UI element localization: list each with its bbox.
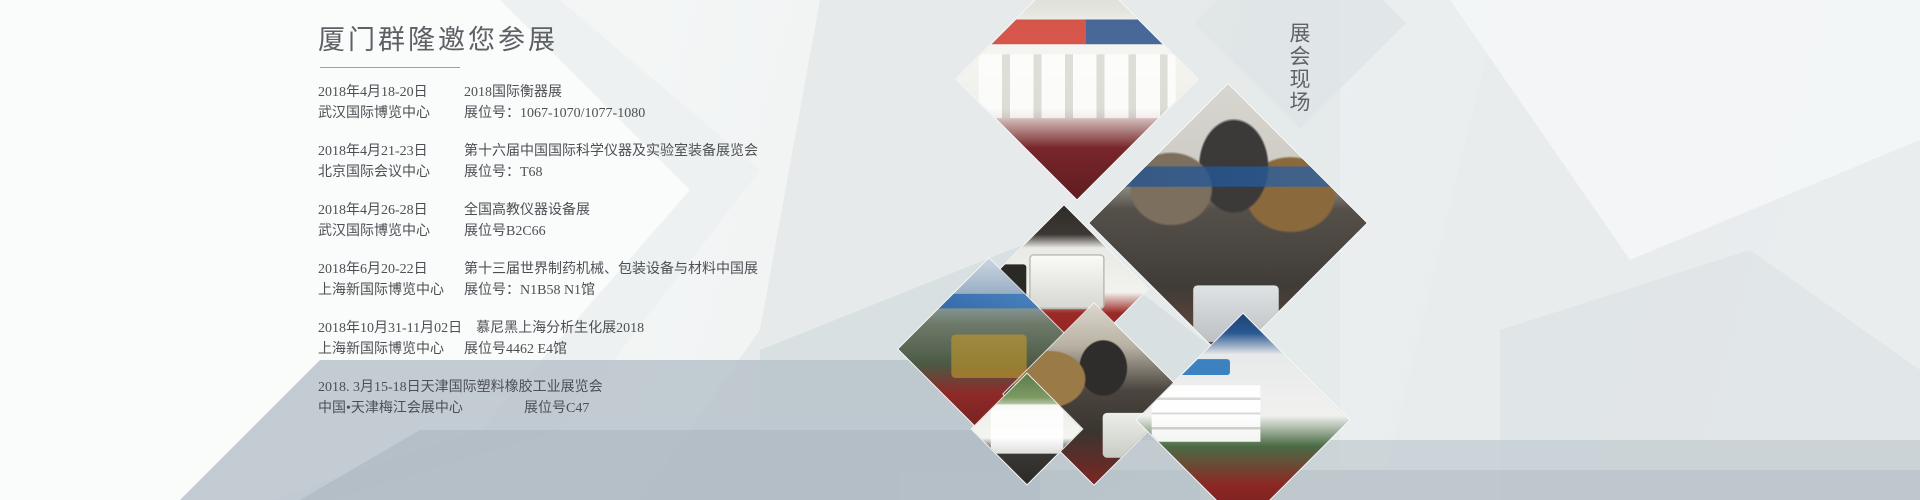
list-item: 2018年4月21-23日第十六届中国国际科学仪器及实验室装备展览会 北京国际会… <box>318 141 1098 183</box>
event-venue: 中国•天津梅江会展中心 <box>318 398 510 419</box>
bg-facet-8 <box>1450 0 1920 260</box>
event-booth: 展位号C47 <box>510 398 589 419</box>
event-venue: 武汉国际博览中心 <box>318 103 450 124</box>
event-list-panel: 厦门群隆邀您参展 2018年4月18-20日2018国际衡器展 武汉国际博览中心… <box>318 18 1098 488</box>
event-date: 2018. 3月15-18日天津国际塑料橡胶工业展览会 <box>318 377 603 398</box>
event-row-primary: 2018年4月26-28日全国高教仪器设备展 <box>318 200 1098 221</box>
event-booth: 展位号：1067-1070/1077-1080 <box>450 103 645 124</box>
event-row-secondary: 武汉国际博览中心展位号：1067-1070/1077-1080 <box>318 103 1098 124</box>
event-row-primary: 2018年10月31-11月02日慕尼黑上海分析生化展2018 <box>318 318 1098 339</box>
bg-facet-9 <box>1500 250 1920 500</box>
event-row-primary: 2018年6月20-22日第十三届世界制药机械、包装设备与材料中国展 <box>318 259 1098 280</box>
event-date: 2018年6月20-22日 <box>318 259 450 280</box>
event-name: 2018国际衡器展 <box>450 82 562 103</box>
vertical-label: 展会现场 <box>1278 22 1312 114</box>
list-item: 2018. 3月15-18日天津国际塑料橡胶工业展览会 中国•天津梅江会展中心展… <box>318 377 1098 419</box>
event-name: 慕尼黑上海分析生化展2018 <box>462 318 644 339</box>
list-item: 2018年4月26-28日全国高教仪器设备展 武汉国际博览中心展位号B2C66 <box>318 200 1098 242</box>
title-underline <box>320 67 460 68</box>
event-date: 2018年10月31-11月02日 <box>318 318 462 339</box>
event-row-primary: 2018年4月21-23日第十六届中国国际科学仪器及实验室装备展览会 <box>318 141 1098 162</box>
list-item: 2018年4月18-20日2018国际衡器展 武汉国际博览中心展位号：1067-… <box>318 82 1098 124</box>
event-booth: 展位号：N1B58 N1馆 <box>450 280 595 301</box>
event-date: 2018年4月21-23日 <box>318 141 450 162</box>
page-title: 厦门群隆邀您参展 <box>318 18 1098 65</box>
event-row-secondary: 武汉国际博览中心展位号B2C66 <box>318 221 1098 242</box>
event-date: 2018年4月26-28日 <box>318 200 450 221</box>
event-venue: 上海新国际博览中心 <box>318 280 450 301</box>
event-row-secondary: 北京国际会议中心展位号：T68 <box>318 162 1098 183</box>
event-venue: 北京国际会议中心 <box>318 162 450 183</box>
event-row-primary: 2018. 3月15-18日天津国际塑料橡胶工业展览会 <box>318 377 1098 398</box>
exhibition-banner: 厦门群隆邀您参展 2018年4月18-20日2018国际衡器展 武汉国际博览中心… <box>0 0 1920 500</box>
event-venue: 武汉国际博览中心 <box>318 221 450 242</box>
photo-image <box>1137 314 1349 500</box>
event-row-secondary: 上海新国际博览中心展位号4462 E4馆 <box>318 339 1098 360</box>
event-row-secondary: 中国•天津梅江会展中心展位号C47 <box>318 398 1098 419</box>
list-item: 2018年10月31-11月02日慕尼黑上海分析生化展2018 上海新国际博览中… <box>318 318 1098 360</box>
list-item: 2018年6月20-22日第十三届世界制药机械、包装设备与材料中国展 上海新国际… <box>318 259 1098 301</box>
event-booth: 展位号B2C66 <box>450 221 546 242</box>
event-booth: 展位号：T68 <box>450 162 543 183</box>
event-venue: 上海新国际博览中心 <box>318 339 450 360</box>
event-date: 2018年4月18-20日 <box>318 82 450 103</box>
event-name: 第十三届世界制药机械、包装设备与材料中国展 <box>450 259 758 280</box>
event-row-secondary: 上海新国际博览中心展位号：N1B58 N1馆 <box>318 280 1098 301</box>
event-name: 全国高教仪器设备展 <box>450 200 590 221</box>
event-name: 第十六届中国国际科学仪器及实验室装备展览会 <box>450 141 758 162</box>
collage-photo-instrument-booth <box>1137 314 1349 500</box>
event-row-primary: 2018年4月18-20日2018国际衡器展 <box>318 82 1098 103</box>
event-booth: 展位号4462 E4馆 <box>450 339 567 360</box>
